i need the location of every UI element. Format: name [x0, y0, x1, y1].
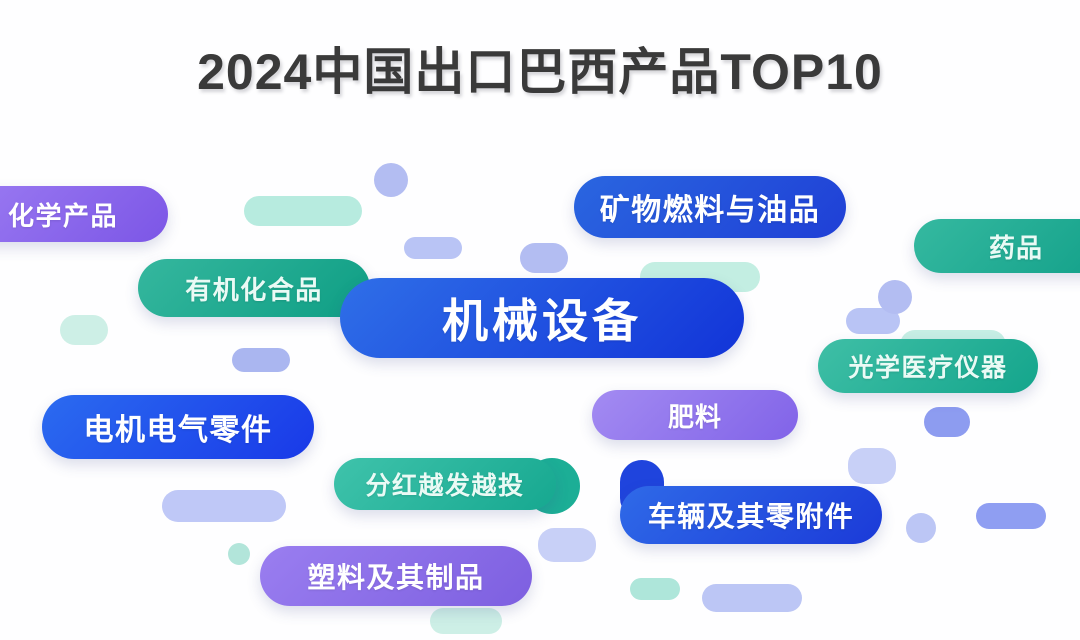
bubble-optical-medical[interactable]: 光学医疗仪器 [818, 339, 1038, 393]
bubble-mineral-fuels[interactable]: 矿物燃料与油品 [574, 176, 846, 238]
deco-mint-2 [60, 315, 108, 345]
deco-lav-7 [702, 584, 802, 612]
deco-lav-circle-1 [374, 163, 408, 197]
bubble-label: 分红越发越投 [365, 466, 524, 502]
deco-lav-circle-5 [878, 280, 912, 314]
deco-mint-6 [430, 608, 502, 634]
deco-lav-4 [162, 490, 286, 522]
bubble-label: 电机电气零件 [84, 405, 273, 449]
page-title-container: 2024中国出口巴西产品TOP10 [0, 32, 1080, 104]
bubble-label: 肥料 [668, 397, 722, 434]
deco-lav-1 [404, 237, 462, 259]
bubble-label: 矿物燃料与油品 [600, 185, 821, 229]
bubble-pharmaceuticals[interactable]: 药品 [914, 219, 1080, 273]
bubble-vehicles[interactable]: 车辆及其零附件 [620, 486, 882, 544]
bubble-label: 塑料及其制品 [307, 556, 484, 596]
bubble-label: 光学医疗仪器 [848, 348, 1007, 384]
bubble-dividend[interactable]: 分红越发越投 [334, 458, 556, 510]
bubble-plastics[interactable]: 塑料及其制品 [260, 546, 532, 606]
deco-mint-1 [244, 196, 362, 226]
deco-lav-circle-2 [520, 243, 568, 273]
bubble-label: 有机化合品 [185, 270, 323, 307]
bubble-organic-chemicals[interactable]: 有机化合品 [138, 259, 370, 317]
deco-mint-circle-1 [228, 543, 250, 565]
deco-lav-6 [976, 503, 1046, 529]
deco-lav-5 [538, 528, 596, 562]
deco-lav-3 [232, 348, 290, 372]
bubble-label: 机械设备 [442, 285, 642, 351]
bubble-electrical-parts[interactable]: 电机电气零件 [42, 395, 314, 459]
deco-lav-circle-3 [924, 407, 970, 437]
bubble-label: 化学产品 [8, 196, 118, 233]
bubble-label: 药品 [989, 228, 1043, 265]
page-title: 2024中国出口巴西产品TOP10 [197, 32, 883, 104]
deco-mint-5 [630, 578, 680, 600]
deco-lav-circle-4 [906, 513, 936, 543]
bubble-chemical-products[interactable]: 化学产品 [0, 186, 168, 242]
bubble-label: 车辆及其零附件 [648, 495, 855, 535]
deco-lav-8 [848, 448, 896, 484]
bubble-machinery[interactable]: 机械设备 [340, 278, 744, 358]
bubble-fertilizer[interactable]: 肥料 [592, 390, 798, 440]
infographic-canvas: 2024中国出口巴西产品TOP10 机械设备矿物燃料与油品电机电气零件车辆及其零… [0, 0, 1080, 640]
